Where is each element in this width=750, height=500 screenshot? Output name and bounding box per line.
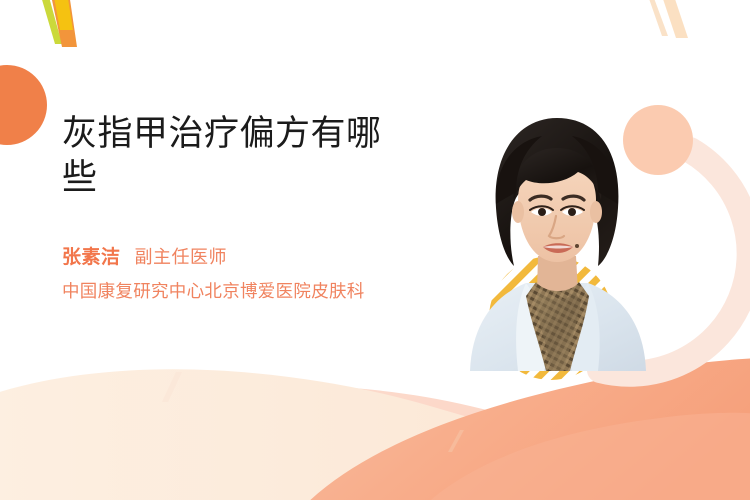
bottom-center-faint-stripe	[162, 372, 464, 452]
doctor-portrait-illustration	[452, 96, 662, 371]
orange-circle	[0, 65, 47, 145]
video-cover-card: 灰指甲治疗偏方有哪些 张素洁 副主任医师 中国康复研究中心北京博爱医院皮肤科	[0, 0, 750, 500]
doctor-name: 张素洁	[62, 242, 121, 269]
doctor-affiliation: 中国康复研究中心北京博爱医院皮肤科	[62, 279, 392, 304]
top-left-stripes	[38, 0, 77, 47]
bottom-waves	[0, 358, 750, 500]
doctor-rank: 副主任医师	[135, 243, 228, 269]
doctor-identity-line: 张素洁 副主任医师	[62, 242, 442, 269]
doctor-portrait	[452, 96, 662, 371]
cover-text-block: 灰指甲治疗偏方有哪些 张素洁 副主任医师 中国康复研究中心北京博爱医院皮肤科	[62, 112, 442, 305]
top-right-stripes	[646, 0, 688, 38]
page-title: 灰指甲治疗偏方有哪些	[62, 112, 412, 200]
